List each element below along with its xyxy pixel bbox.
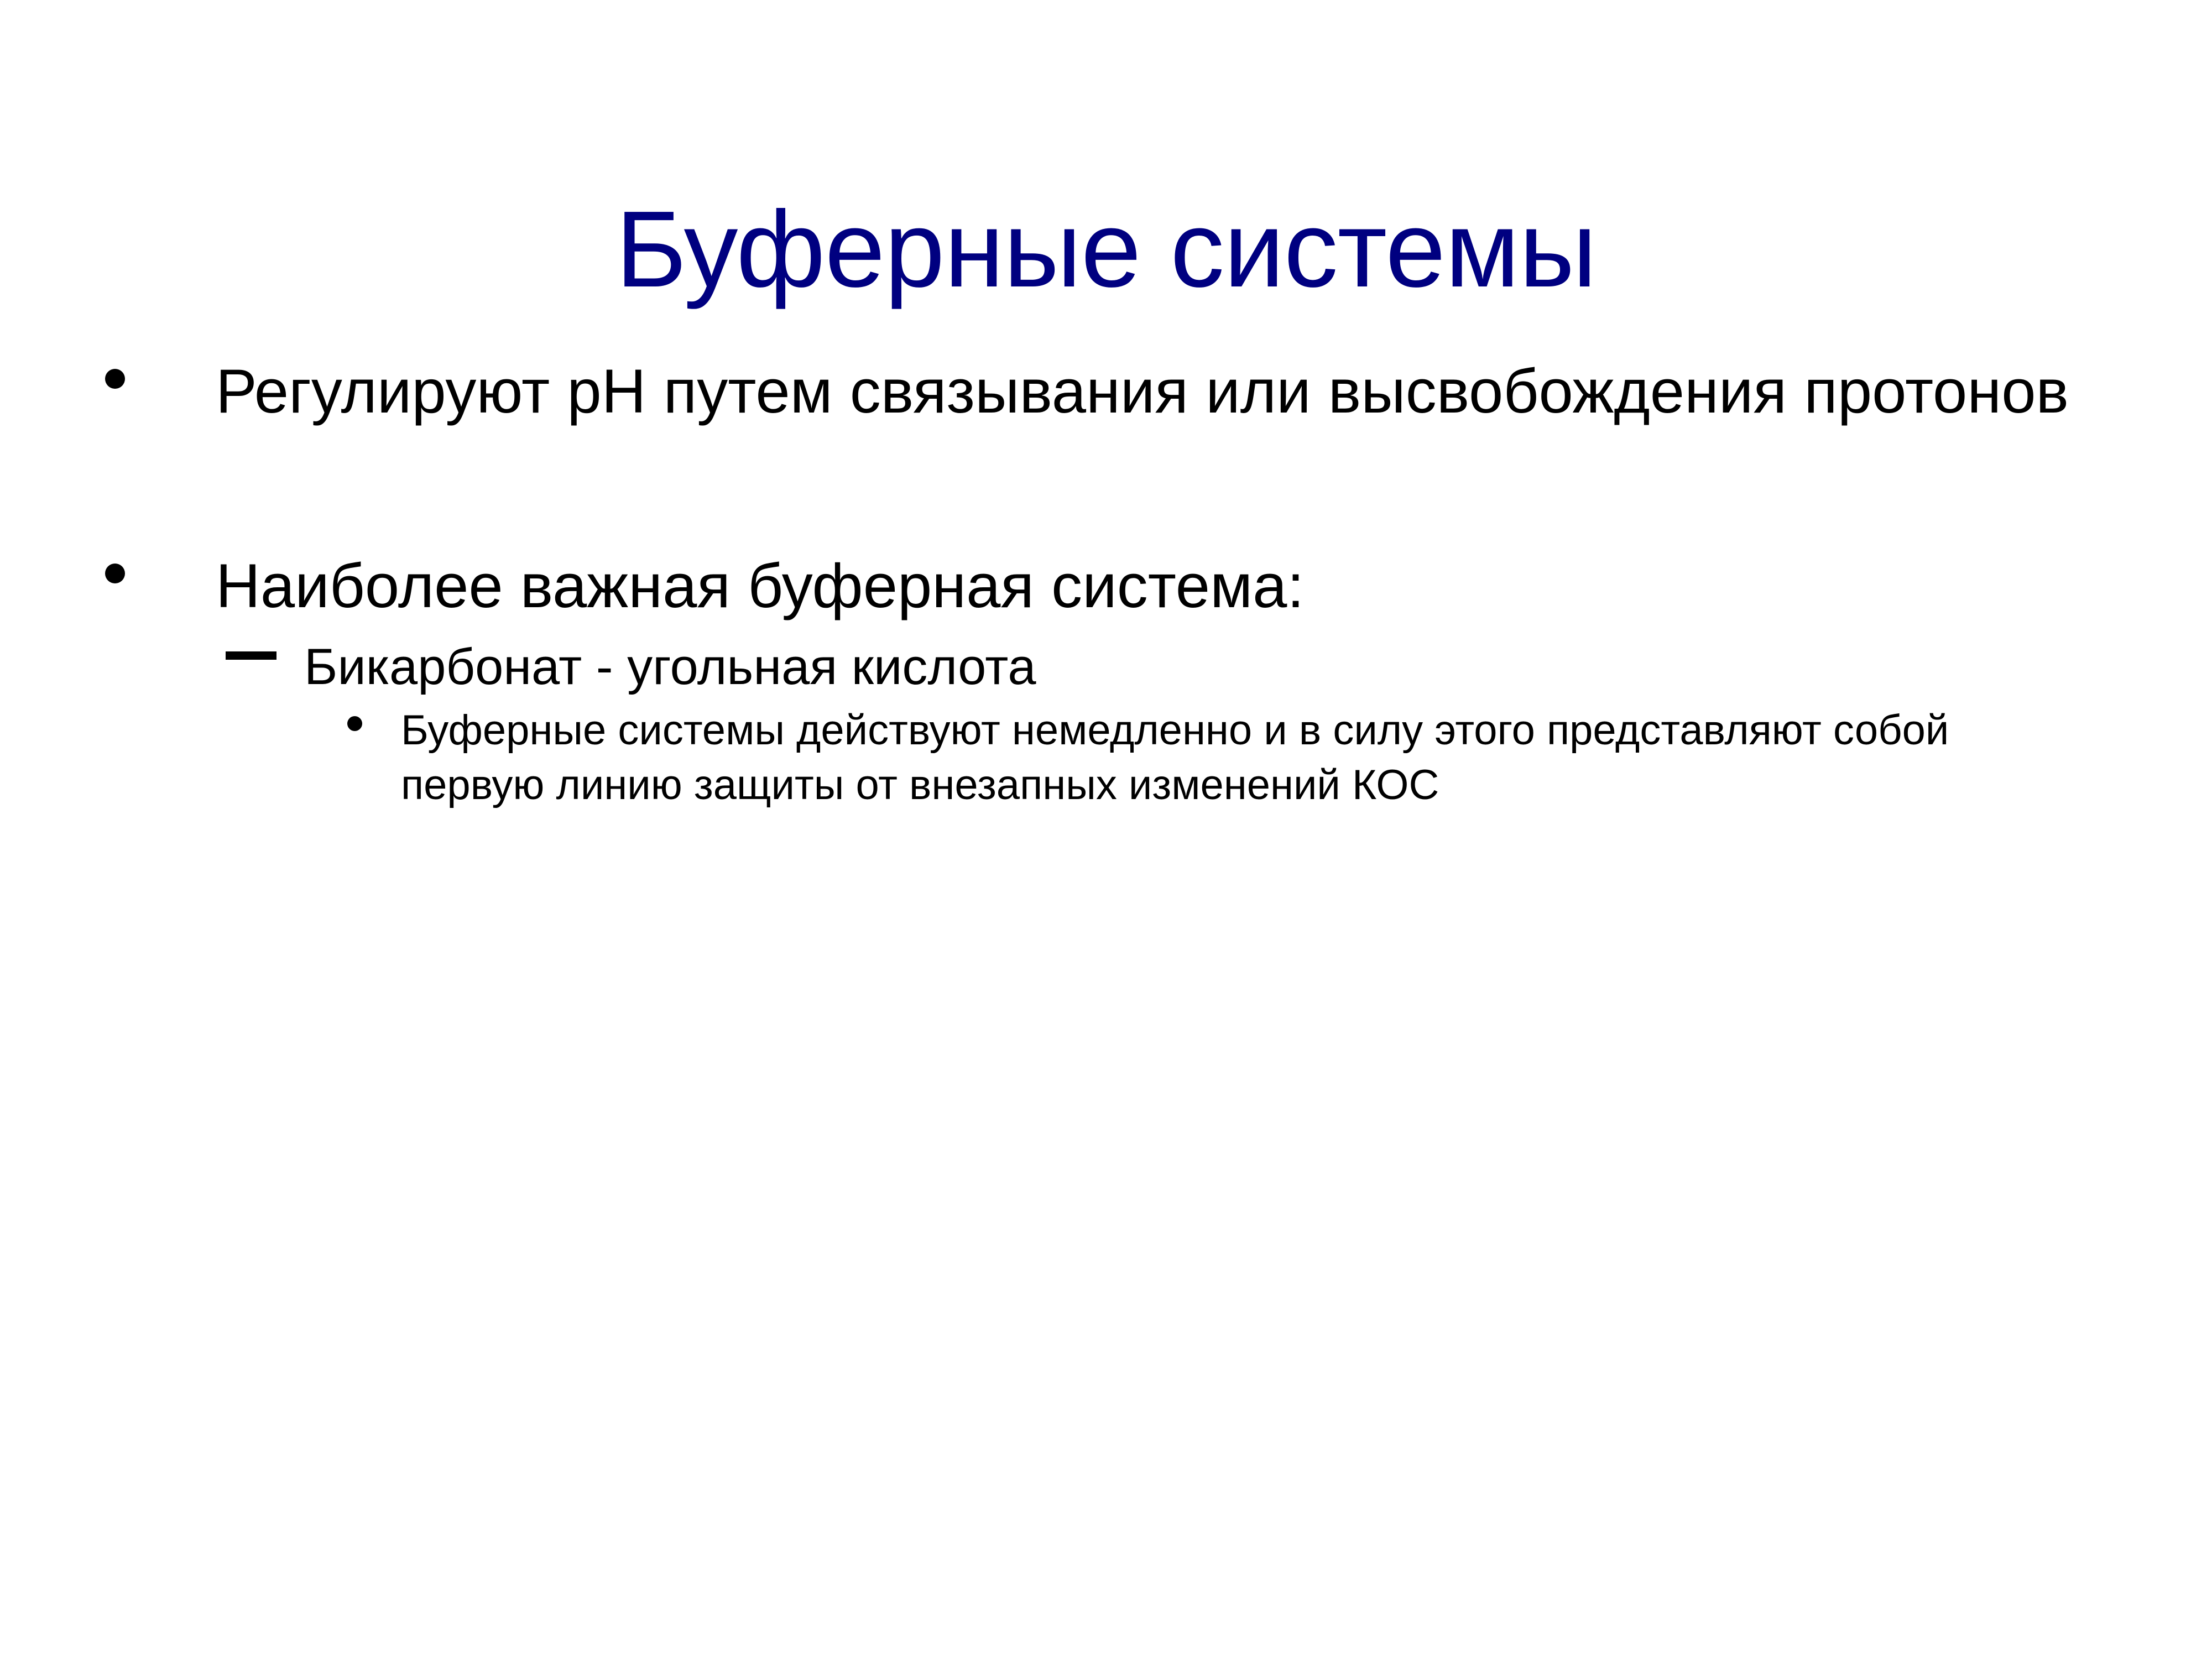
spacer <box>83 430 2129 549</box>
dash-bullet-icon <box>226 651 276 660</box>
filled-circle-bullet-icon <box>105 369 125 389</box>
filled-circle-bullet-icon <box>105 564 125 583</box>
bullet-text: Регулируют pH путем связывания или высво… <box>216 357 2069 426</box>
spacer <box>83 698 2129 703</box>
page-title: Буферные системы <box>0 189 2212 310</box>
bullet-text: Бикарбонат - угольная кислота <box>304 639 1036 695</box>
bullet-item-level1: Регулируют pH путем связывания или высво… <box>83 354 2107 430</box>
bullet-text: Буферные системы действуют немедленно и … <box>401 707 1949 808</box>
bullet-item-level1: Наиболее важная буферная система: <box>83 549 2107 624</box>
bullet-item-level2: Бикарбонат - угольная кислота <box>83 636 2129 698</box>
spacer <box>83 624 2129 636</box>
slide-body: Регулируют pH путем связывания или высво… <box>83 354 2129 813</box>
bullet-text: Наиболее важная буферная система: <box>216 551 1304 620</box>
bullet-item-level3: Буферные системы действуют немедленно и … <box>83 703 2049 813</box>
slide-canvas: Буферные системы Регулируют pH путем свя… <box>0 0 2212 1659</box>
small-filled-circle-bullet-icon <box>347 716 362 731</box>
